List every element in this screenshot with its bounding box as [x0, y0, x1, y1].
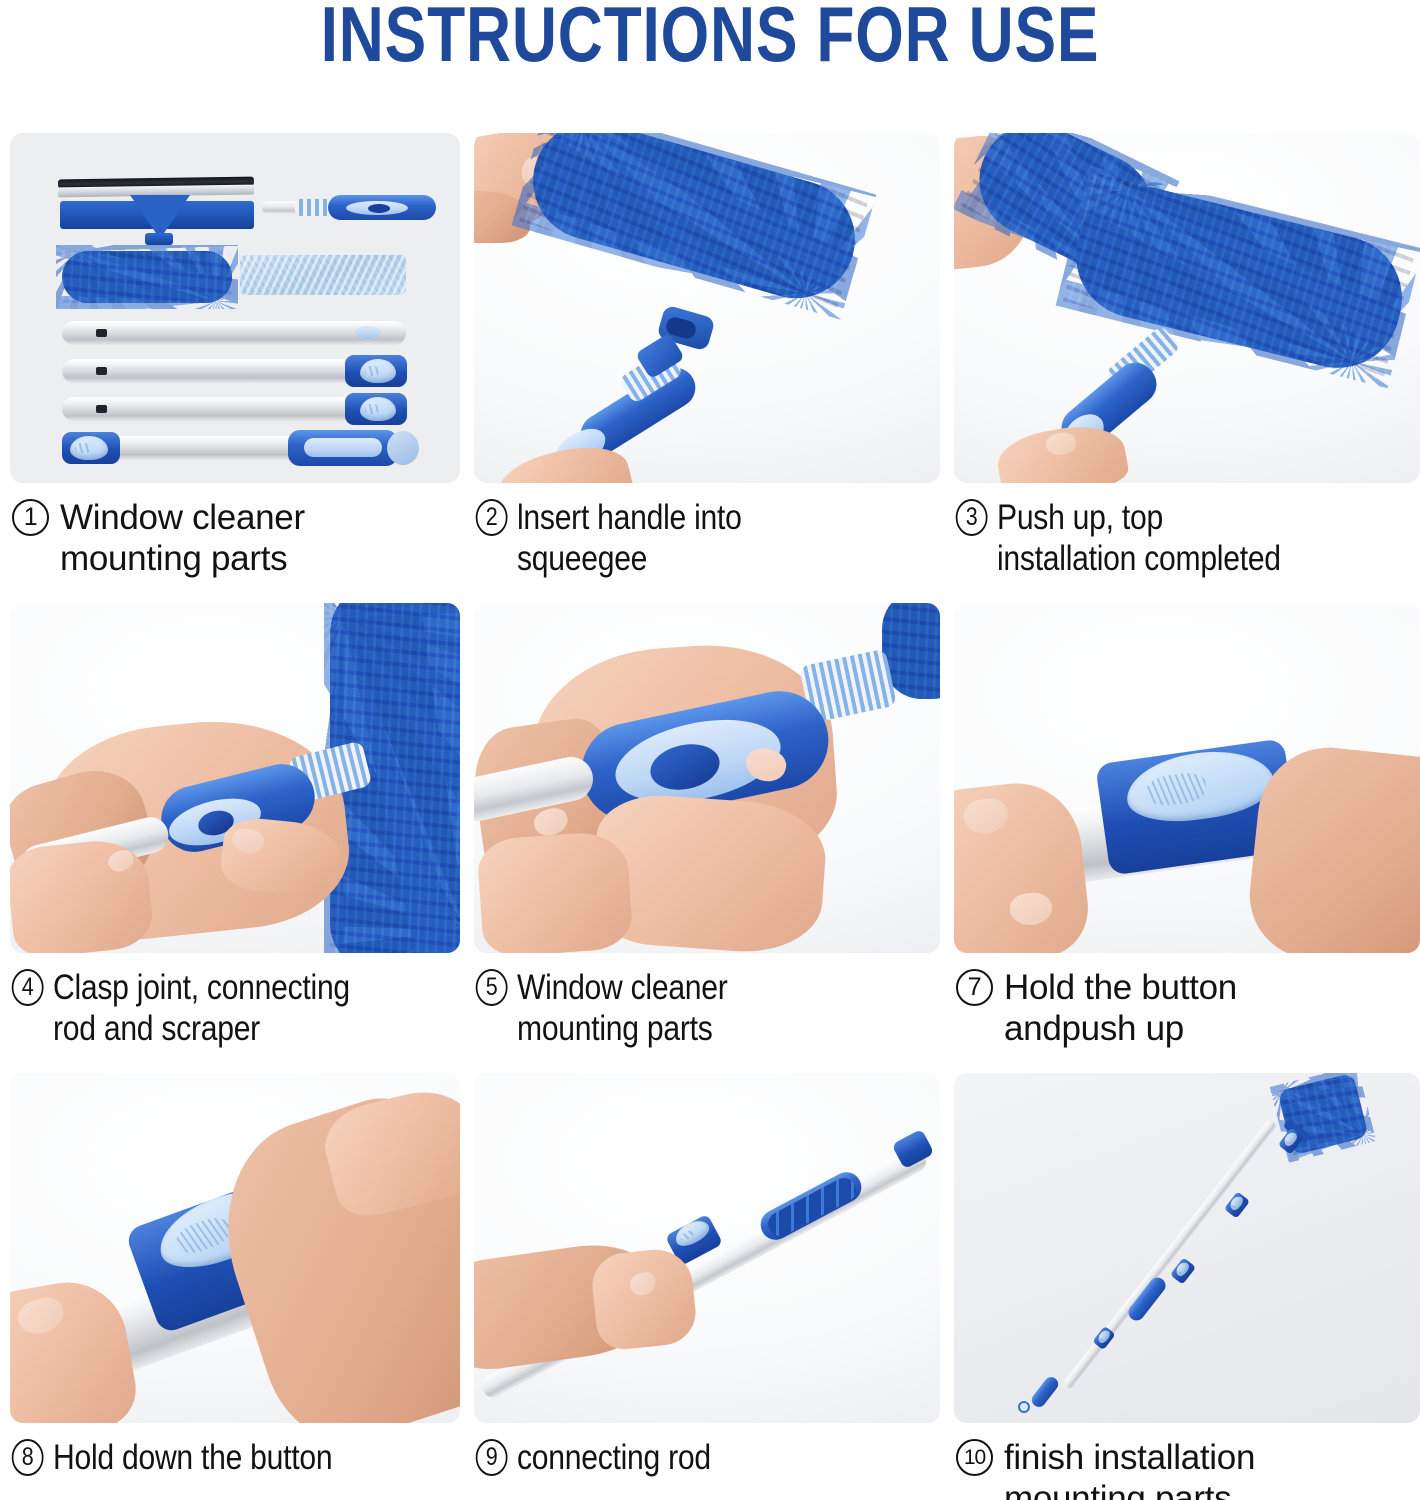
step-number-5: 5	[476, 969, 508, 1006]
step-line-10b: mounting parts	[1004, 1478, 1420, 1500]
rod-1-button	[355, 326, 381, 339]
step-image-3	[954, 133, 1420, 483]
step-number-1: 1	[12, 499, 49, 536]
squeegee-socket	[145, 233, 173, 245]
step-number-3: 3	[956, 499, 988, 536]
step-caption-9: 9 connecting rod	[474, 1437, 939, 1478]
step-line-3a: Push up, top	[997, 497, 1419, 538]
step-cell-7: 7 Hold the button andpush up	[954, 603, 1420, 1073]
hand	[589, 1246, 698, 1352]
microfiber-pad	[240, 255, 406, 295]
step-image-5	[474, 603, 940, 953]
step-cell-2: 2 lnsert handle into squeegee	[474, 133, 940, 603]
step-line-10a: finish installation	[1004, 1437, 1420, 1478]
chenille-texture	[62, 251, 232, 303]
rod-4-grip-inlay	[304, 438, 382, 457]
step-line-9a: connecting rod	[517, 1437, 939, 1478]
step-line-7b: andpush up	[1004, 1008, 1420, 1049]
rod-2-lock-button	[360, 359, 396, 383]
step-image-9	[474, 1073, 940, 1423]
step-image-1	[10, 133, 460, 483]
rod-4-lock-button	[70, 436, 108, 460]
step-image-7	[954, 603, 1420, 953]
handle-button	[368, 204, 390, 213]
step-number-8: 8	[12, 1439, 44, 1476]
step-number-7: 7	[956, 969, 993, 1006]
step-line-1a: Window cleaner	[60, 497, 460, 538]
step-cell-8: 8 Hold down the button	[10, 1073, 460, 1493]
step-image-2	[474, 133, 940, 483]
step-line-7a: Hold the button	[1004, 967, 1420, 1008]
step-caption-4: 4 Clasp joint, connecting rod and scrape…	[10, 967, 459, 1050]
hand-lower	[10, 836, 155, 953]
step-number-10: 10	[956, 1439, 993, 1476]
step-caption-10: 10 finish installation mounting parts	[954, 1437, 1420, 1500]
step-number-4: 4	[12, 969, 44, 1006]
step-line-2a: lnsert handle into	[517, 497, 939, 538]
step-cell-4: 4 Clasp joint, connecting rod and scrape…	[10, 603, 460, 1073]
step-number-2: 2	[476, 499, 508, 536]
step-number-9: 9	[476, 1439, 508, 1476]
step-caption-8: 8 Hold down the button	[10, 1437, 459, 1478]
page-title: INSTRUCTIONS FOR USE	[142, 0, 1278, 76]
step-caption-2: 2 lnsert handle into squeegee	[474, 497, 939, 580]
step-image-8	[10, 1073, 460, 1423]
step-caption-7: 7 Hold the button andpush up	[954, 967, 1420, 1050]
rod-4-end-cap	[387, 431, 419, 465]
step-caption-5: 5 Window cleaner mounting parts	[474, 967, 939, 1050]
steps-grid: 1 Window cleaner mounting parts	[10, 133, 1420, 1493]
step-line-4b: rod and scraper	[53, 1008, 459, 1049]
hand-lower	[476, 830, 634, 953]
hang-loop	[1018, 1401, 1030, 1413]
rod-3-marker	[96, 405, 107, 413]
step-line-2b: squeegee	[517, 538, 939, 579]
step-caption-1: 1 Window cleaner mounting parts	[10, 497, 460, 580]
instruction-sheet: INSTRUCTIONS FOR USE	[0, 0, 1420, 1500]
step-line-5b: mounting parts	[517, 1008, 939, 1049]
step-image-4	[10, 603, 460, 953]
rod-1-marker	[96, 329, 107, 337]
step-line-8a: Hold down the button	[53, 1437, 459, 1478]
chenille-pad	[62, 251, 232, 303]
rod-2-marker	[96, 367, 107, 375]
step-line-4a: Clasp joint, connecting	[53, 967, 459, 1008]
step-cell-3: 3 Push up, top installation completed	[954, 133, 1420, 603]
step-line-3b: installation completed	[997, 538, 1419, 579]
step-cell-1: 1 Window cleaner mounting parts	[10, 133, 460, 603]
step-caption-3: 3 Push up, top installation completed	[954, 497, 1419, 580]
step-cell-5: 5 Window cleaner mounting parts	[474, 603, 940, 1073]
rod-3-lock-button	[360, 397, 396, 421]
step-cell-10: 10 finish installation mounting parts	[954, 1073, 1420, 1493]
step-cell-9: 9 connecting rod	[474, 1073, 940, 1493]
step-image-10	[954, 1073, 1420, 1423]
step-line-1b: mounting parts	[60, 538, 460, 579]
step-line-5a: Window cleaner	[517, 967, 939, 1008]
